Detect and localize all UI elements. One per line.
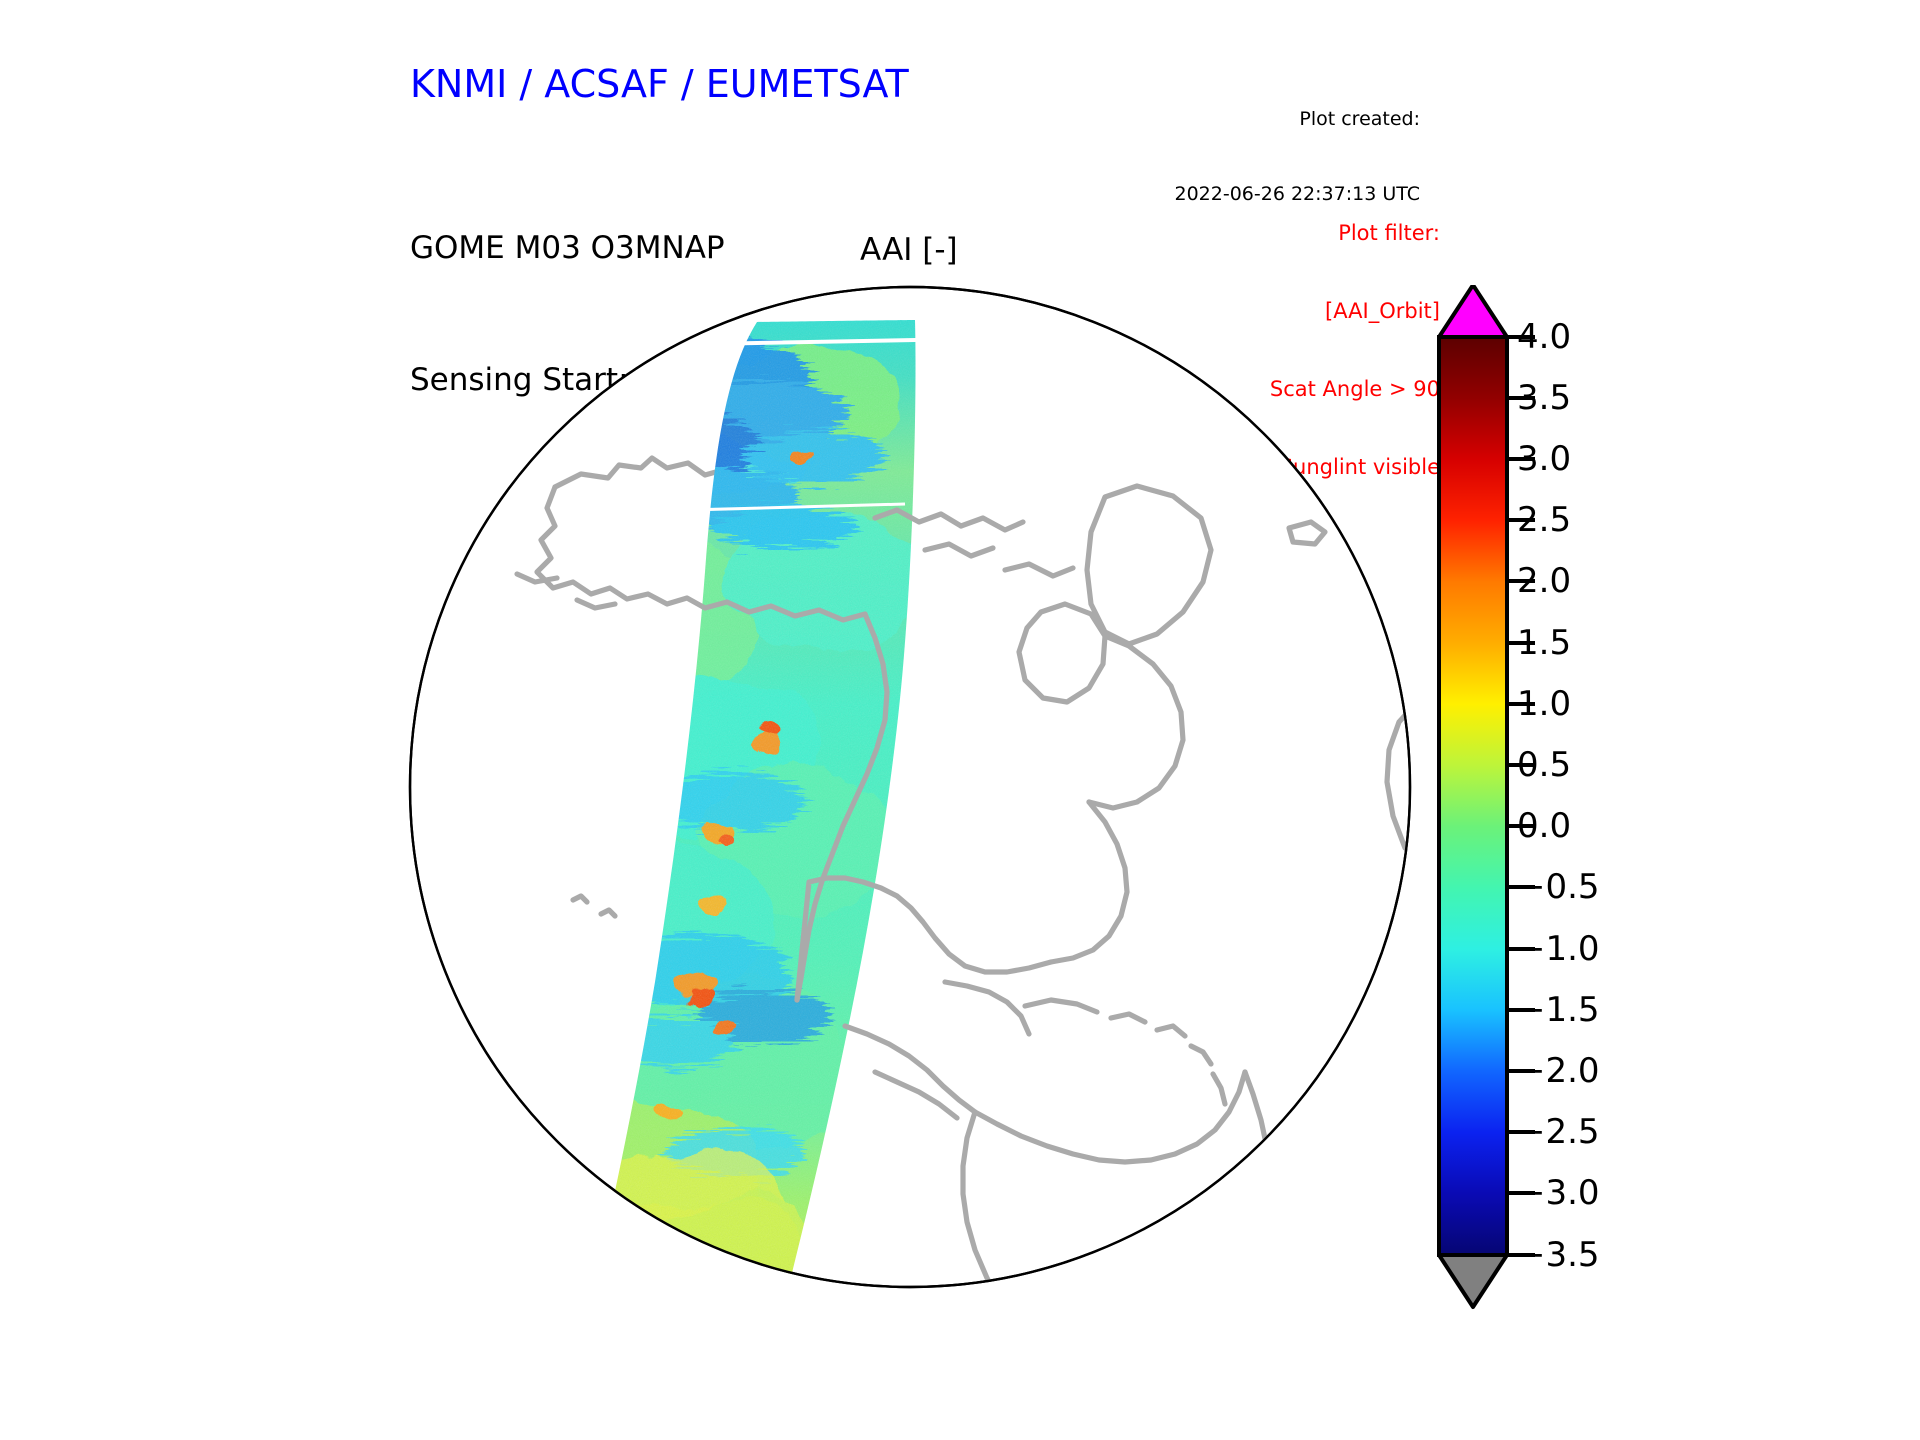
plot-created-label: Plot created: [1100, 107, 1420, 132]
colorbar [1425, 285, 1845, 1315]
variable-title: AAI [-] [860, 232, 958, 268]
colorbar-over-arrow [1439, 285, 1507, 337]
colorbar-tick-label-13: −2.5 [1517, 1112, 1600, 1152]
globe-plot [405, 282, 1415, 1292]
colorbar-tick-label-15: −3.5 [1517, 1235, 1600, 1275]
organisation-title: KNMI / ACSAF / EUMETSAT [410, 62, 909, 106]
plot-filter-label: Plot filter: [1140, 220, 1440, 246]
colorbar-tick-label-12: −2.0 [1517, 1051, 1600, 1091]
colorbar-tick-label-7: 0.5 [1517, 745, 1571, 785]
colorbar-under-arrow [1439, 1255, 1507, 1307]
colorbar-tick-label-4: 2.0 [1517, 561, 1571, 601]
colorbar-tick-label-0: 4.0 [1517, 317, 1571, 357]
map-panel[interactable] [405, 282, 1415, 1292]
colorbar-tick-label-5: 1.5 [1517, 623, 1571, 663]
colorbar-tick-label-2: 3.0 [1517, 439, 1571, 479]
colorbar-gradient [1439, 337, 1507, 1255]
colorbar-tick-label-10: −1.0 [1517, 929, 1600, 969]
colorbar-panel[interactable]: 4.0 3.5 3.0 2.5 2.0 1.5 1.0 0.5 0.0 −0.5… [1425, 285, 1845, 1315]
colorbar-tick-label-8: 0.0 [1517, 806, 1571, 846]
colorbar-tick-label-6: 1.0 [1517, 684, 1571, 724]
colorbar-tick-label-14: −3.0 [1517, 1173, 1600, 1213]
colorbar-tick-label-3: 2.5 [1517, 500, 1571, 540]
colorbar-tick-label-9: −0.5 [1517, 867, 1600, 907]
colorbar-tick-label-1: 3.5 [1517, 378, 1571, 418]
colorbar-tick-label-11: −1.5 [1517, 990, 1600, 1030]
